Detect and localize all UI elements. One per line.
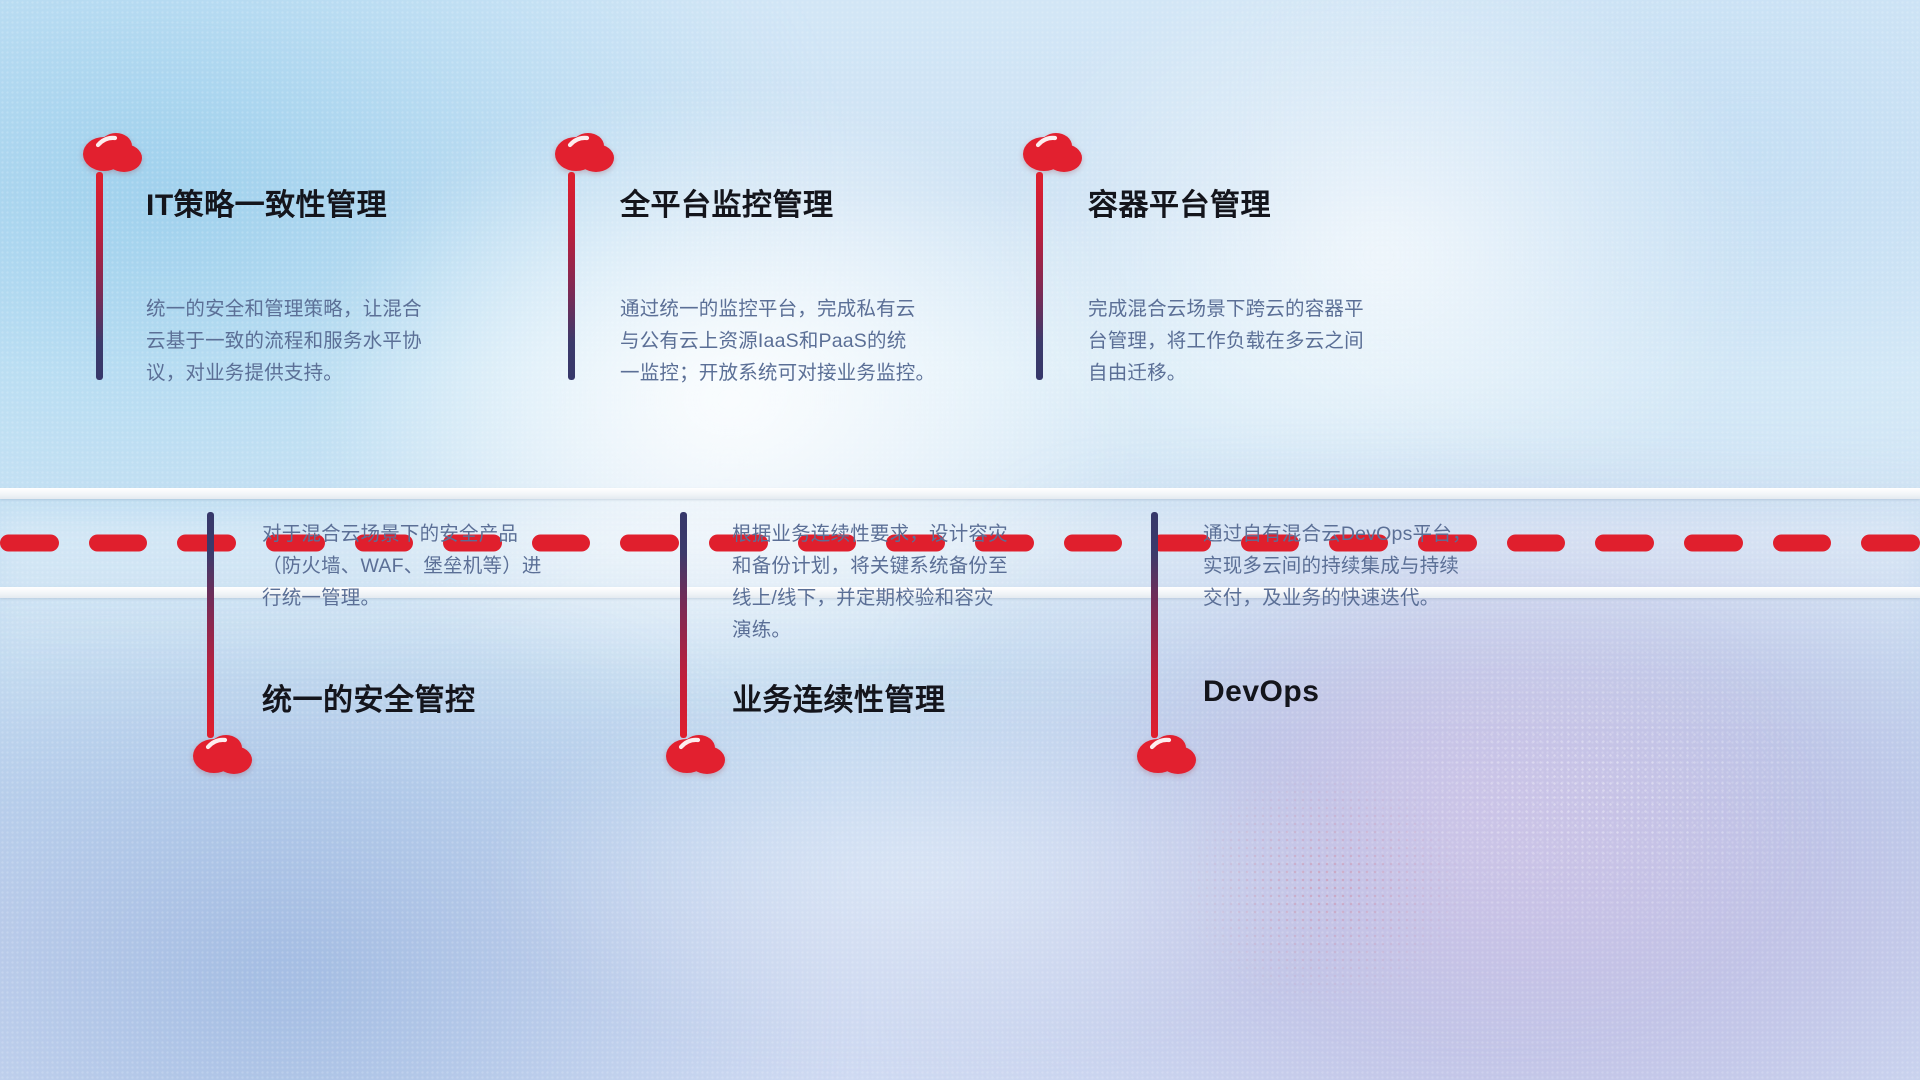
marker-body: 通过自有混合云DevOps平台， 实现多云间的持续集成与持续 交付，及业务的快速…: [1203, 518, 1472, 614]
marker-body-line: （防火墙、WAF、堡垒机等）进: [262, 550, 542, 582]
marker-body: 完成混合云场景下跨云的容器平 台管理，将工作负载在多云之间 自由迁移。: [1088, 293, 1364, 389]
marker-title: IT策略一致性管理: [146, 180, 387, 224]
marker-title: 业务连续性管理: [732, 675, 946, 719]
marker-body-line: 实现多云间的持续集成与持续: [1203, 550, 1472, 582]
marker-body-line: 根据业务连续性要求，设计容灾: [732, 518, 1008, 550]
road-dash: [1595, 535, 1654, 552]
cloud-pin-icon: [1018, 128, 1088, 176]
marker-body: 对于混合云场景下的安全产品 （防火墙、WAF、堡垒机等）进 行统一管理。: [262, 518, 542, 614]
road-dash: [1152, 535, 1211, 552]
cloud-pin-icon: [1132, 730, 1202, 778]
marker-body: 统一的安全和管理策略，让混合 云基于一致的流程和服务水平协 议，对业务提供支持。: [146, 293, 422, 389]
marker-body-line: 云基于一致的流程和服务水平协: [146, 325, 422, 357]
background-dot-cluster-red: [1171, 756, 1478, 1015]
marker-body-line: 台管理，将工作负载在多云之间: [1088, 325, 1364, 357]
cloud-pin-icon: [661, 730, 731, 778]
marker-body-line: 自由迁移。: [1088, 357, 1364, 389]
marker-body-line: 通过自有混合云DevOps平台，: [1203, 518, 1472, 550]
marker-stem: [568, 172, 575, 380]
road-dash: [1064, 535, 1123, 552]
marker-body-line: 与公有云上资源IaaS和PaaS的统: [620, 325, 935, 357]
marker-stem: [1036, 172, 1043, 380]
marker-body-line: 对于混合云场景下的安全产品: [262, 518, 542, 550]
marker-body: 通过统一的监控平台，完成私有云 与公有云上资源IaaS和PaaS的统 一监控；开…: [620, 293, 935, 389]
marker-body-line: 行统一管理。: [262, 582, 542, 614]
marker-stem: [96, 172, 103, 380]
marker-body-line: 完成混合云场景下跨云的容器平: [1088, 293, 1364, 325]
marker-stem: [1151, 512, 1158, 738]
marker-title: 统一的安全管控: [262, 675, 476, 719]
road-dash: [1773, 535, 1832, 552]
marker-body-line: 一监控；开放系统可对接业务监控。: [620, 357, 935, 389]
road-dash: [89, 535, 148, 552]
marker-title: 全平台监控管理: [620, 180, 834, 224]
road-dash: [1507, 535, 1566, 552]
marker-body-line: 线上/线下，并定期校验和容灾: [732, 582, 1008, 614]
cloud-pin-icon: [78, 128, 148, 176]
marker-body-line: 议，对业务提供支持。: [146, 357, 422, 389]
marker-body: 根据业务连续性要求，设计容灾 和备份计划，将关键系统备份至 线上/线下，并定期校…: [732, 518, 1008, 646]
marker-body-line: 和备份计划，将关键系统备份至: [732, 550, 1008, 582]
marker-stem: [680, 512, 687, 738]
road-edge-line-top: [0, 488, 1920, 499]
cloud-pin-icon: [188, 730, 258, 778]
cloud-pin-icon: [550, 128, 620, 176]
marker-body-line: 交付，及业务的快速迭代。: [1203, 582, 1472, 614]
road-dash: [1861, 535, 1920, 552]
marker-title: DevOps: [1203, 675, 1319, 709]
marker-stem: [207, 512, 214, 738]
marker-body-line: 演练。: [732, 614, 1008, 646]
road-dash: [1684, 535, 1743, 552]
marker-body-line: 通过统一的监控平台，完成私有云: [620, 293, 935, 325]
marker-title: 容器平台管理: [1088, 180, 1271, 224]
marker-body-line: 统一的安全和管理策略，让混合: [146, 293, 422, 325]
road-dash: [620, 535, 679, 552]
road-dash: [0, 535, 59, 552]
